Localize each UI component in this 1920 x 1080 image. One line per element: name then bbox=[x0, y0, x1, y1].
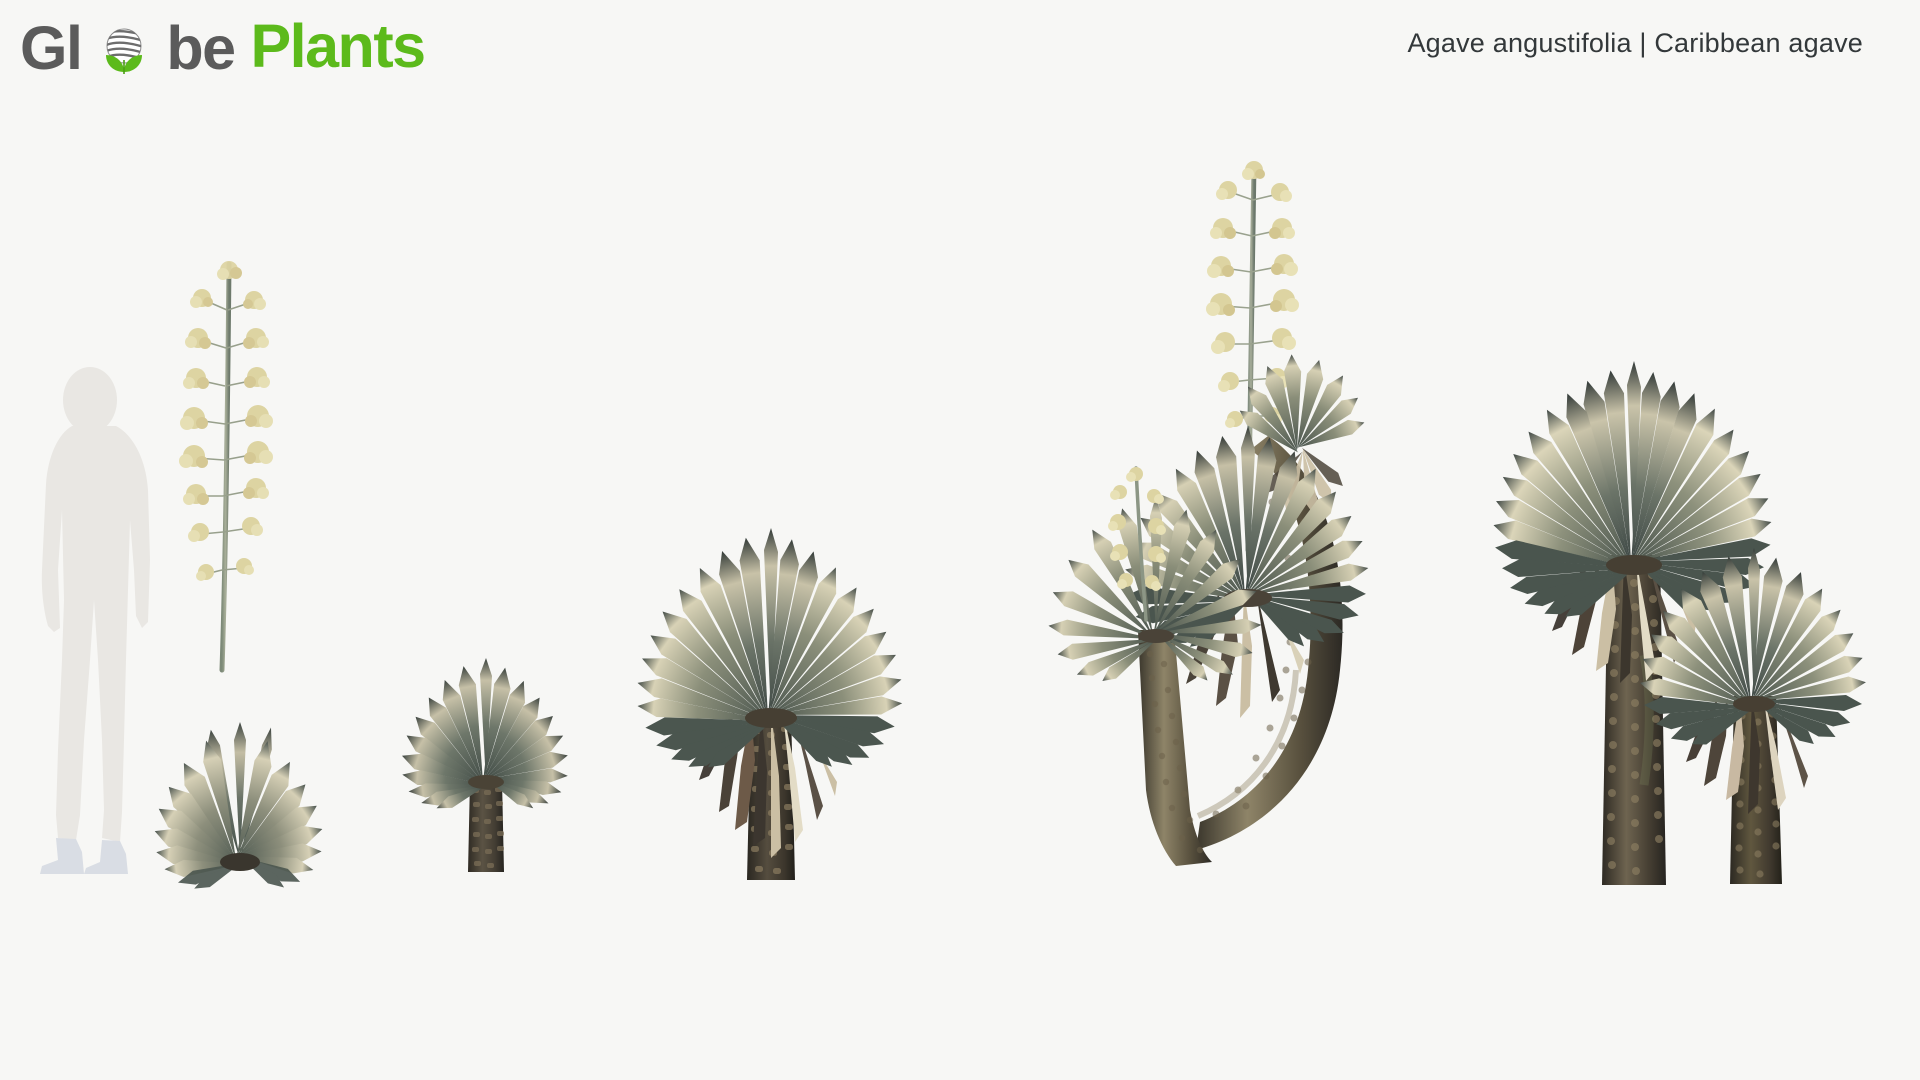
agave-specimen-1-flowering-young[interactable] bbox=[130, 240, 370, 890]
logo-globe-text: Gl bbox=[20, 13, 235, 78]
agave-specimen-2-short-trunk[interactable] bbox=[372, 630, 602, 890]
agave-specimen-4-curved-trunk-flowering[interactable] bbox=[1000, 150, 1460, 910]
logo-plants-text: Plants bbox=[251, 16, 425, 77]
logo-gl-letters: Gl bbox=[20, 18, 81, 79]
agave-specimen-3-mature-rosette[interactable] bbox=[575, 460, 985, 890]
globe-leaf-icon bbox=[98, 24, 150, 76]
specimen-lineup bbox=[0, 0, 1920, 1080]
inflorescence-stalk-1 bbox=[179, 261, 273, 670]
logo-be-letters: be bbox=[166, 18, 234, 79]
globe-plants-logo[interactable]: Gl bbox=[20, 8, 425, 84]
agave-specimen-6-medium-offset[interactable] bbox=[1630, 500, 1920, 890]
page-title: Agave angustifolia | Caribbean agave bbox=[1407, 28, 1863, 59]
page-header: Gl bbox=[0, 0, 1920, 110]
rosette-1 bbox=[151, 722, 325, 890]
